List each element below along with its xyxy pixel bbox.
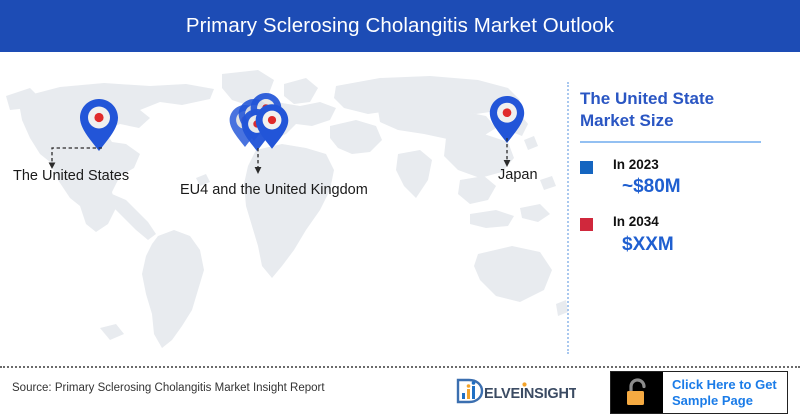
map-label-japan: Japan <box>498 165 538 186</box>
map-label-eu4-uk: EU4 and the United Kingdom <box>180 180 330 201</box>
page-title: Primary Sclerosing Cholangitis Market Ou… <box>186 14 614 38</box>
map-label-united-states: The United States <box>13 166 129 187</box>
legend-row-2023: In 2023 ~$80M <box>580 158 790 199</box>
source-note: Source: Primary Sclerosing Cholangitis M… <box>12 382 325 394</box>
legend-year-2034: In 2034 <box>613 215 674 230</box>
map-pin-icon-eu-5 <box>254 103 290 150</box>
unlock-padlock-icon <box>611 372 663 413</box>
footer-divider <box>0 366 800 368</box>
legend-year-2023: In 2023 <box>613 158 681 173</box>
svg-text:ELVEINSIGHT: ELVEINSIGHT <box>484 386 576 402</box>
legend-swatch-blue <box>580 161 593 174</box>
map-region: The United States <box>0 52 568 362</box>
map-pin-icon-japan[interactable] <box>488 95 526 144</box>
panel-divider <box>567 82 569 354</box>
legend-value-2023: ~$80M <box>622 177 681 198</box>
panel-title-rule <box>580 141 761 143</box>
infographic-slide: Primary Sclerosing Cholangitis Market Ou… <box>0 0 800 420</box>
panel-title: The United State Market Size <box>580 88 790 132</box>
delveinsight-logo: ELVEINSIGHT <box>456 377 576 405</box>
legend-value-2034: $XXM <box>622 235 674 256</box>
get-sample-page-label: Click Here to Get Sample Page <box>663 372 787 413</box>
legend-swatch-red <box>580 218 593 231</box>
legend-row-2034: In 2034 $XXM <box>580 215 790 256</box>
leader-line-eu4-uk <box>251 148 265 176</box>
legend-texts-2034: In 2034 $XXM <box>613 215 674 256</box>
get-sample-page-button[interactable]: Click Here to Get Sample Page <box>610 371 788 414</box>
header-banner: Primary Sclerosing Cholangitis Market Ou… <box>0 0 800 52</box>
legend-texts-2023: In 2023 ~$80M <box>613 158 681 199</box>
market-size-panel: The United State Market Size In 2023 ~$8… <box>580 88 790 256</box>
